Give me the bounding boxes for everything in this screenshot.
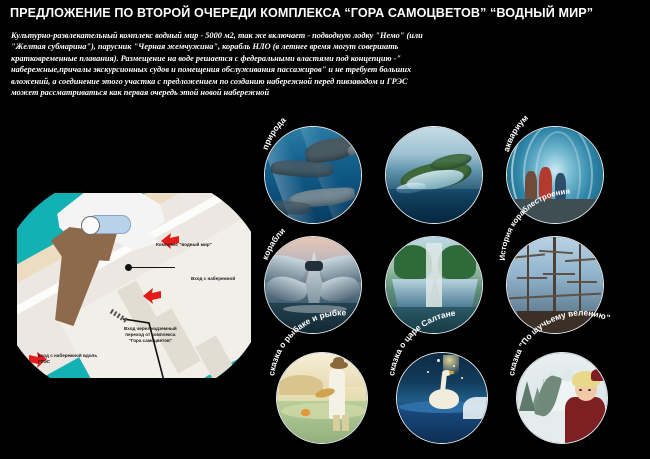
svg-text:аквариум: аквариум — [501, 113, 530, 153]
caption-akvarium-text: аквариум — [501, 113, 530, 153]
description-lead: Культурно-развлекательный комплекс водны… — [11, 31, 234, 40]
caption-korabli-text: корабли — [260, 226, 287, 261]
page-title: ПРЕДЛОЖЕНИЕ ПО ВТОРОЙ ОЧЕРЕДИ КОМПЛЕКСА … — [10, 6, 646, 20]
caption-shchuka: сказка "По щучьему велению" — [508, 330, 650, 390]
svg-text:природа: природа — [260, 115, 288, 151]
arrow-icon-entry-overpass — [141, 286, 163, 304]
map-path — [17, 193, 251, 378]
map-disc — [17, 193, 251, 378]
description-rest: , так же включает - подводную лодку "Нем… — [11, 31, 423, 97]
svg-text:корабли: корабли — [260, 226, 287, 261]
site-map[interactable]: Комплекс "водный мир" Вход с набережной … — [17, 193, 251, 378]
artwork-floating-island — [386, 127, 482, 223]
description-block: Культурно-развлекательный комплекс водны… — [11, 30, 431, 98]
map-label-entry-embankment: Вход с набережной — [191, 276, 235, 282]
caption-akvarium: аквариум — [500, 106, 650, 166]
photo-circle-floating-island[interactable] — [385, 126, 483, 224]
caption-istoriya: История кораблестроения — [494, 210, 650, 270]
caption-priroda-text: природа — [260, 115, 288, 151]
map-label-complex: Комплекс "водный мир" — [156, 242, 212, 248]
map-label-entry-gres: вход с набережной вдоль ГРЭС — [38, 353, 97, 365]
poster-root: ПРЕДЛОЖЕНИЕ ПО ВТОРОЙ ОЧЕРЕДИ КОМПЛЕКСА … — [0, 0, 650, 459]
map-label-entry-overpass: Вход через надземный переход от комплекс… — [124, 326, 177, 344]
